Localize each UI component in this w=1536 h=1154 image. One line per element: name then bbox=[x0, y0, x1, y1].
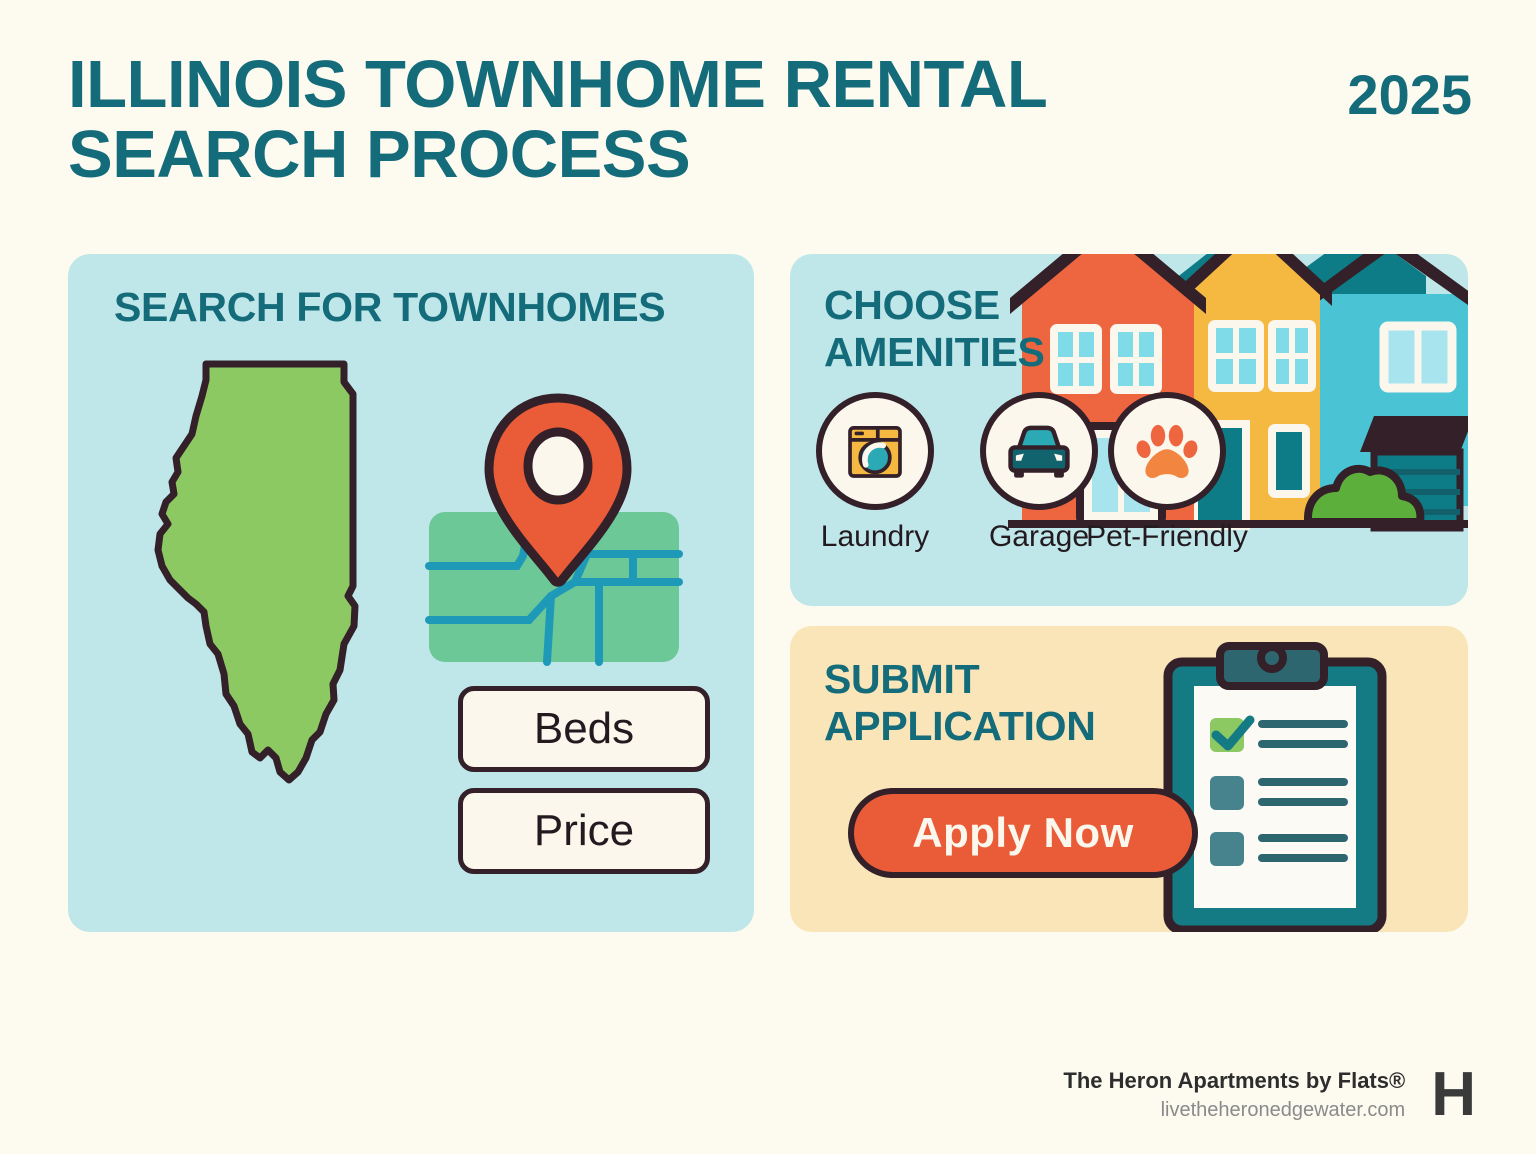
amenity-circle-garage[interactable] bbox=[980, 392, 1098, 510]
panel-search-for-townhomes: Search for Townhomes bbox=[68, 254, 754, 932]
apply-now-button[interactable]: Apply Now bbox=[848, 788, 1198, 878]
footer: The Heron Apartments by Flats® livethehe… bbox=[1063, 1064, 1476, 1126]
amenity-circle-pet-friendly[interactable] bbox=[1108, 392, 1226, 510]
panel-search-heading: Search for Townhomes bbox=[114, 284, 665, 331]
panel-submit-heading: Submit Application bbox=[824, 656, 1164, 750]
illinois-state-map-icon bbox=[148, 354, 408, 794]
clipboard-checklist-icon bbox=[1158, 640, 1408, 932]
paw-print-icon bbox=[1131, 415, 1203, 487]
amenity-label-garage: Garage bbox=[989, 520, 1089, 554]
heron-h-logo: H bbox=[1431, 1064, 1476, 1126]
amenity-item-pet-friendly[interactable]: Pet-Friendly bbox=[1108, 392, 1226, 510]
year-badge: 2025 bbox=[1347, 62, 1472, 127]
amenity-item-garage[interactable]: Garage bbox=[980, 392, 1098, 510]
washing-machine-icon bbox=[838, 414, 912, 488]
footer-text-group: The Heron Apartments by Flats® livethehe… bbox=[1063, 1066, 1405, 1124]
amenity-circle-laundry[interactable] bbox=[816, 392, 934, 510]
filter-button-price[interactable]: Price bbox=[458, 788, 710, 874]
filter-button-beds[interactable]: Beds bbox=[458, 686, 710, 772]
amenity-label-laundry: Laundry bbox=[821, 520, 929, 554]
footer-website-url[interactable]: livetheheronedgewater.com bbox=[1063, 1096, 1405, 1124]
map-with-pin-group bbox=[423, 384, 693, 694]
infographic-canvas: Illinois Townhome Rental Search Process … bbox=[0, 0, 1536, 1154]
panel-choose-amenities: Choose Amenities Laundry bbox=[790, 254, 1468, 606]
panel-submit-application: Submit Application Apply Now bbox=[790, 626, 1468, 932]
page-title: Illinois Townhome Rental Search Process bbox=[68, 50, 1258, 190]
footer-brand-name: The Heron Apartments by Flats® bbox=[1063, 1066, 1405, 1096]
amenity-label-pet-friendly: Pet-Friendly bbox=[1086, 520, 1248, 554]
car-icon bbox=[999, 415, 1079, 487]
panel-amenities-heading: Choose Amenities bbox=[824, 282, 1124, 376]
amenity-item-laundry[interactable]: Laundry bbox=[816, 392, 934, 510]
